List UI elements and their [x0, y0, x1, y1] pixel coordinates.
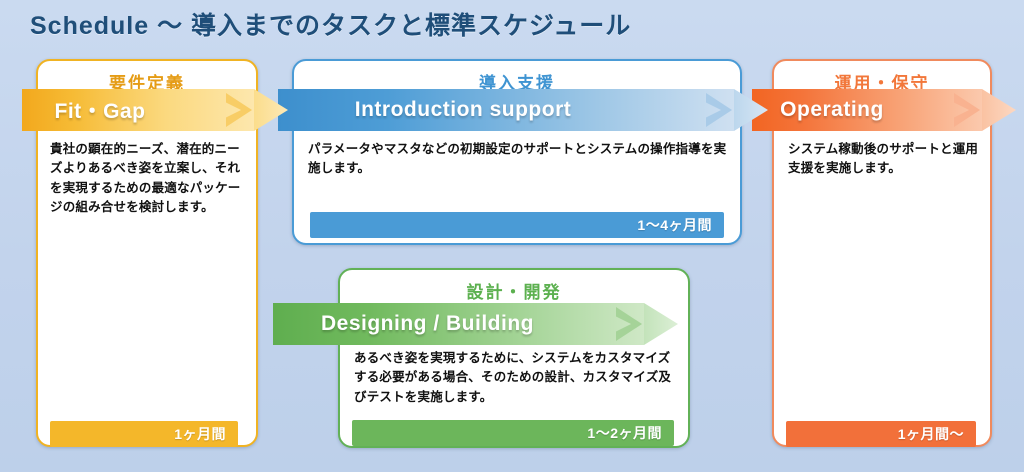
phase-banner-designing-building: Designing / Building [273, 303, 678, 345]
arrow-tip-icon [644, 303, 678, 345]
phase-banner-operating: Operating [752, 89, 1016, 131]
arrow-tip-icon [734, 89, 768, 131]
phase-body-introduction-support: パラメータやマスタなどの初期設定のサポートとシステムの操作指導を実施します。 [308, 140, 728, 179]
schedule-diagram: Schedule ～ 導入までのタスクと標準スケジュール 要件定義 貴社の顕在的… [0, 0, 1024, 472]
phase-title-designing-building: 設計・開発 [340, 278, 688, 303]
phase-banner-requirements: Fit・Gap [22, 89, 288, 131]
arrow-tip-icon [254, 89, 288, 131]
duration-badge-operating: 1ヶ月間～ [786, 421, 976, 447]
phase-banner-label-designing-building: Designing / Building [273, 312, 582, 336]
phase-banner-introduction-support: Introduction support [278, 89, 768, 131]
phase-banner-label-introduction-support: Introduction support [278, 98, 648, 122]
arrow-tip-icon [982, 89, 1016, 131]
phase-body-requirements: 貴社の顕在的ニーズ、潜在的ニーズよりあるべき姿を立案し、それを実現するための最適… [50, 140, 248, 218]
duration-badge-designing-building: 1～2ヶ月間 [352, 420, 674, 446]
phase-body-operating: システム稼動後のサポートと運用支援を実施します。 [788, 140, 982, 179]
phase-body-designing-building: あるべき姿を実現するために、システムをカスタマイズする必要がある場合、そのための… [354, 349, 678, 407]
phase-banner-label-operating: Operating [752, 98, 912, 122]
duration-badge-requirements: 1ヶ月間 [50, 421, 238, 447]
duration-badge-introduction-support: 1～4ヶ月間 [310, 212, 724, 238]
page-title: Schedule ～ 導入までのタスクと標準スケジュール [30, 6, 631, 42]
phase-banner-label-requirements: Fit・Gap [22, 95, 178, 125]
